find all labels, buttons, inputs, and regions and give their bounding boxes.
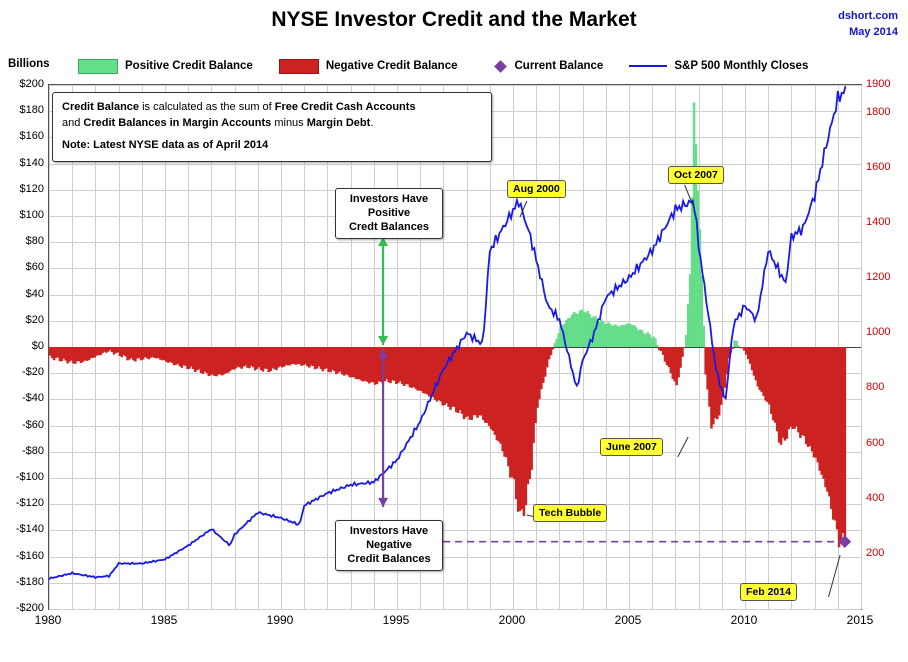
legend-label-positive: Positive Credit Balance [125, 60, 253, 72]
y-axis-tick-right: 1600 [866, 161, 908, 173]
y-axis-tick-left: -$20 [0, 366, 44, 378]
callout-leader-line [829, 555, 841, 597]
y-axis-tick-left: -$160 [0, 550, 44, 562]
diamond-icon [494, 60, 507, 73]
note-latest-data: Note: Latest NYSE data as of April 2014 [62, 138, 482, 154]
y-axis-tick-left: -$140 [0, 523, 44, 535]
note-margin-debt-term: Margin Debt [307, 117, 371, 129]
y-axis-tick-left: -$100 [0, 471, 44, 483]
y-axis-tick-left: $80 [0, 235, 44, 247]
x-gridline [861, 85, 862, 609]
y-axis-tick-right: 1200 [866, 271, 908, 283]
note-credit-balance-term: Credit Balance [62, 101, 139, 113]
note-line2-minus: minus [271, 117, 306, 129]
source-date: May 2014 [849, 26, 898, 38]
chart-plot-area [48, 84, 862, 610]
y-axis-tick-right: 200 [866, 547, 908, 559]
y-axis-tick-left: $160 [0, 130, 44, 142]
callout-tech-bubble: Tech Bubble [533, 504, 607, 522]
y-axis-tick-right: 1800 [866, 106, 908, 118]
y-axis-tick-left: $0 [0, 340, 44, 352]
arrow-positive-credit [378, 237, 388, 345]
callout-june-2007: June 2007 [600, 438, 663, 456]
y-axis-tick-left: -$60 [0, 419, 44, 431]
legend-label-sp500: S&P 500 Monthly Closes [674, 60, 808, 72]
y-axis-tick-right: 1400 [866, 216, 908, 228]
y-axis-tick-left: $120 [0, 183, 44, 195]
callout-aug-2000: Aug 2000 [507, 180, 566, 198]
note-line2-and: and [62, 117, 83, 129]
legend-negative-credit-balance: Negative Credit Balance [279, 59, 458, 74]
x-axis-tick: 2015 [847, 613, 874, 627]
legend-swatch-negative [279, 59, 319, 74]
y-axis-tick-right: 1000 [866, 326, 908, 338]
legend-label-negative: Negative Credit Balance [326, 60, 458, 72]
y-axis-tick-right: 1900 [866, 78, 908, 90]
y-axis-tick-left: $40 [0, 288, 44, 300]
y-axis-tick-right: 600 [866, 437, 908, 449]
legend-line-sp500 [629, 65, 667, 67]
y-axis-tick-left: -$40 [0, 392, 44, 404]
note-line-2: and Credit Balances in Margin Accounts m… [62, 116, 482, 132]
y-axis-tick-left: -$180 [0, 576, 44, 588]
y-axis-tick-left: $200 [0, 78, 44, 90]
note-credit-balances-margin-term: Credit Balances in Margin Accounts [83, 117, 271, 129]
y-axis-tick-right: 800 [866, 381, 908, 393]
y-axis-tick-left: $100 [0, 209, 44, 221]
x-axis-tick: 1985 [151, 613, 178, 627]
chart-series-layer [49, 85, 861, 609]
x-axis-tick: 2010 [731, 613, 758, 627]
x-axis-tick: 1995 [383, 613, 410, 627]
note-line-1: Credit Balance is calculated as the sum … [62, 100, 482, 116]
note-free-credit-term: Free Credit Cash Accounts [275, 101, 416, 113]
x-axis-tick: 2000 [499, 613, 526, 627]
chart-legend: Positive Credit Balance Negative Credit … [78, 55, 868, 77]
y-axis-tick-left: -$120 [0, 497, 44, 509]
x-axis-tick: 2005 [615, 613, 642, 627]
y-axis-tick-left: $140 [0, 157, 44, 169]
callout-leader-line [678, 437, 688, 457]
legend-sp500-monthly-closes: S&P 500 Monthly Closes [629, 60, 808, 72]
legend-positive-credit-balance: Positive Credit Balance [78, 59, 253, 74]
y-axis-tick-left: -$80 [0, 445, 44, 457]
callout-feb-2014: Feb 2014 [740, 583, 797, 601]
y-axis-tick-left: $20 [0, 314, 44, 326]
x-axis-tick: 1990 [267, 613, 294, 627]
note-line1-mid: is calculated as the sum of [139, 101, 275, 113]
legend-label-current-balance: Current Balance [515, 60, 604, 72]
y-axis-tick-left: $60 [0, 261, 44, 273]
chart-note-box: Credit Balance is calculated as the sum … [52, 92, 492, 162]
annotation-negative-credit: Investors HaveNegativeCredit Balances [335, 520, 443, 571]
x-axis-tick: 1980 [35, 613, 62, 627]
note-line2-period: . [370, 117, 373, 129]
y-axis-tick-left: $180 [0, 104, 44, 116]
y-axis-units-label: Billions [8, 58, 50, 70]
callout-oct-2007: Oct 2007 [668, 166, 724, 184]
legend-current-balance: Current Balance [484, 60, 604, 72]
annotation-positive-credit: Investors HavePositiveCredt Balances [335, 188, 443, 239]
y-gridline [49, 609, 861, 610]
legend-swatch-positive [78, 59, 118, 74]
y-axis-tick-right: 400 [866, 492, 908, 504]
source-label: dshort.com [838, 10, 898, 22]
page-title: NYSE Investor Credit and the Market [0, 8, 908, 32]
